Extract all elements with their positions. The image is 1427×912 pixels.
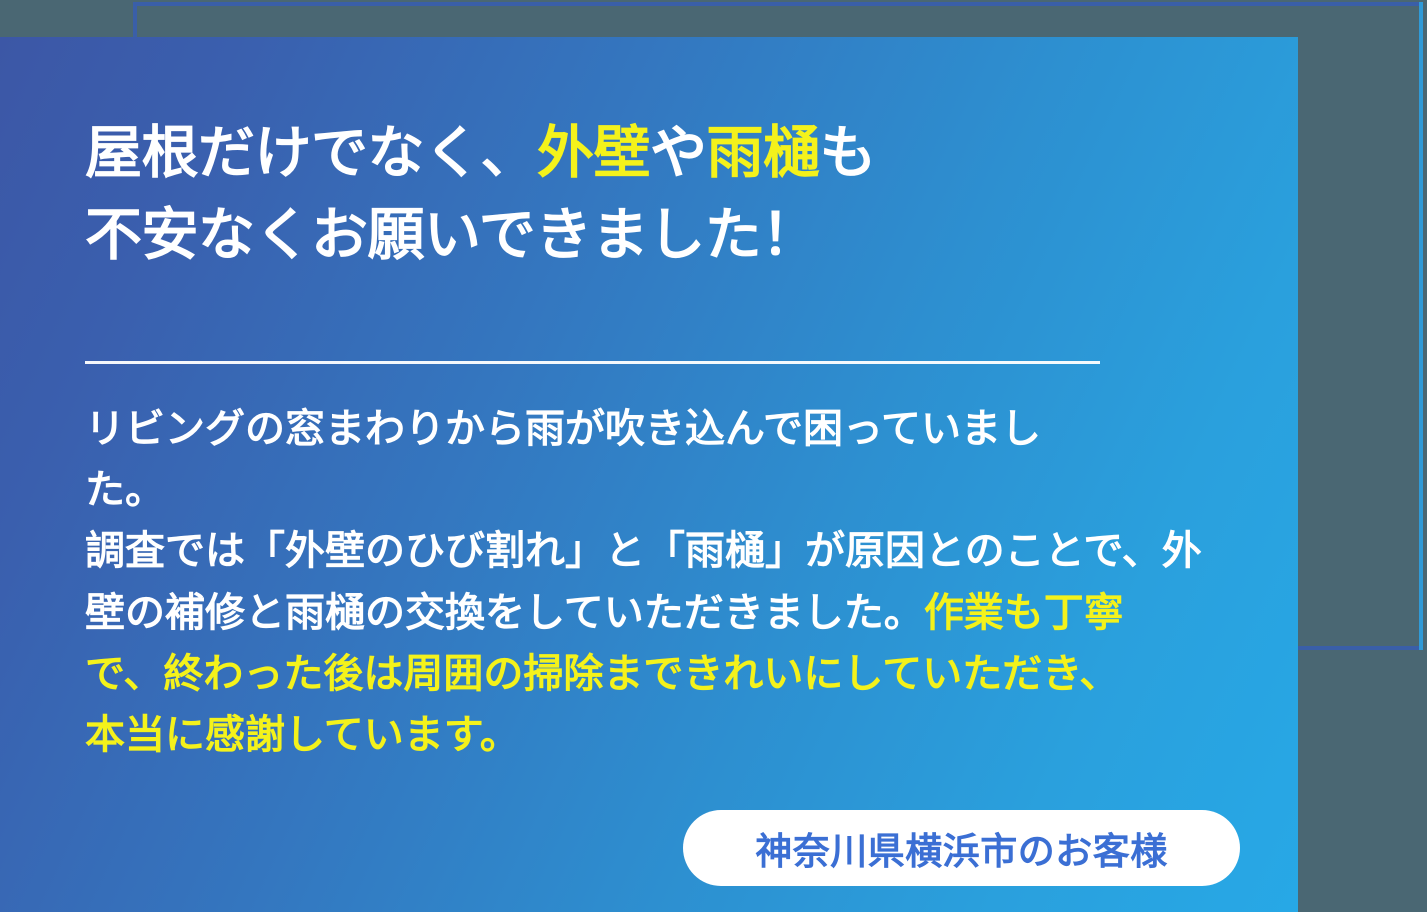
testimonial-body: リビングの窓まわりから雨が吹き込んで困っていまし た。 調査では「外壁のひび割れ… [85,399,1245,766]
body-line-3: 調査では「外壁のひび割れ」と「雨樋」が原因とのことで、外 [85,521,1245,582]
headline-text-plain-3: も [820,121,877,185]
headline-text-plain-4: 不安なくお願いできました！ [85,203,818,267]
headline-line-2: 不安なくお願いできました！ [85,194,1205,276]
body-line-1: リビングの窓まわりから雨が吹き込んで困っていまし [85,399,1245,460]
headline-highlight-amadoi: 雨樋 [707,121,820,185]
testimonial-card: 屋根だけでなく、外壁や雨樋も 不安なくお願いできました！ リビングの窓まわりから… [0,37,1298,912]
headline-text-plain-2: や [650,121,707,185]
customer-location-badge: 神奈川県横浜市のお客様 [683,810,1240,886]
testimonial-card-inner: 屋根だけでなく、外壁や雨樋も 不安なくお願いできました！ リビングの窓まわりから… [0,37,1298,912]
headline-text-plain-1: 屋根だけでなく、 [85,121,537,185]
body-line-4: 壁の補修と雨樋の交換をしていただきました。作業も丁寧 [85,583,1245,644]
customer-location-badge-label: 神奈川県横浜市のお客様 [755,821,1168,875]
body-line-4-highlight: 作業も丁寧 [924,591,1124,635]
body-line-5-highlight: で、終わった後は周囲の掃除まできれいにしていただき、 [85,644,1245,705]
headline-line-1: 屋根だけでなく、外壁や雨樋も [85,112,1205,194]
decorative-outline-frame-right-edge [1419,2,1423,650]
body-line-6-highlight: 本当に感謝しています。 [85,705,1245,766]
headline-highlight-gaiheki: 外壁 [537,121,650,185]
testimonial-headline: 屋根だけでなく、外壁や雨樋も 不安なくお願いできました！ [85,112,1205,276]
body-line-2: た。 [85,460,1245,521]
body-line-4-plain: 壁の補修と雨樋の交換をしていただきました。 [85,591,924,635]
headline-divider [85,361,1100,364]
